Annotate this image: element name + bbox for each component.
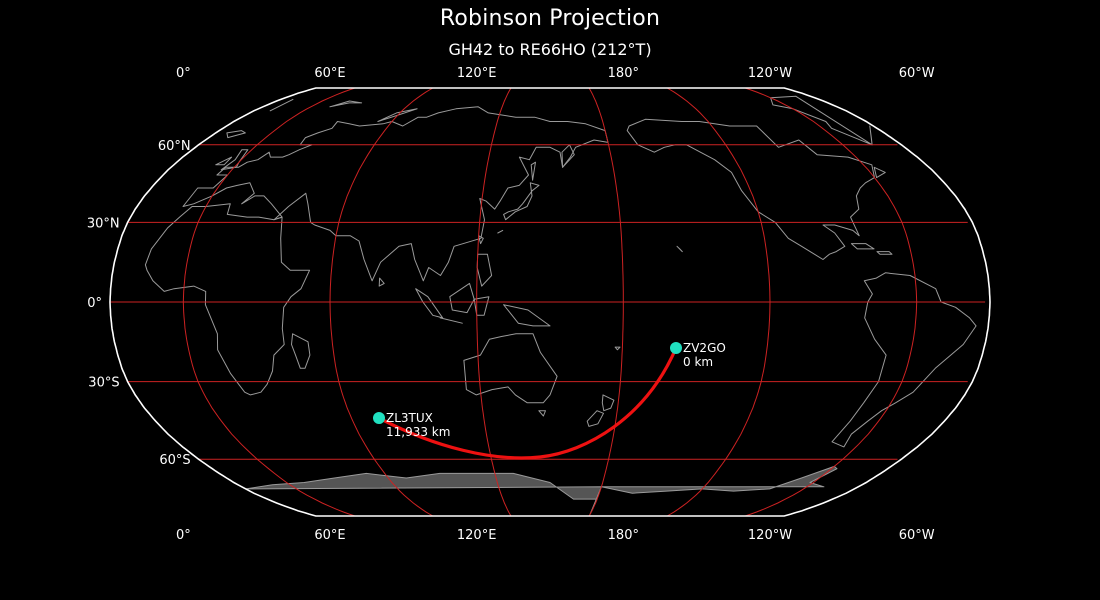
lat-tick-3: 30°S xyxy=(88,376,119,391)
figure-canvas: Robinson Projection GH42 to RE66HO (212°… xyxy=(0,0,1100,600)
lat-tick-0: 60°N xyxy=(158,139,191,154)
station-callsign-zv2go: ZV2GO xyxy=(683,341,726,355)
station-distance-zv2go: 0 km xyxy=(683,355,713,369)
station-marker-zv2go[interactable] xyxy=(670,342,682,354)
lon-tick-bottom-5: 60°E xyxy=(314,528,345,543)
lon-tick-top-5: 60°E xyxy=(314,66,345,81)
lat-tick-4: 60°S xyxy=(159,453,190,468)
lon-tick-top-4: 0° xyxy=(176,66,191,81)
lon-tick-bottom-4: 0° xyxy=(176,528,191,543)
lon-tick-top-0: 120°E xyxy=(457,66,497,81)
lat-tick-1: 30°N xyxy=(87,216,120,231)
station-marker-zl3tux[interactable] xyxy=(373,412,385,424)
station-distance-zl3tux: 11,933 km xyxy=(386,425,450,439)
lon-tick-bottom-3: 60°W xyxy=(899,528,935,543)
station-callsign-zl3tux: ZL3TUX xyxy=(386,411,433,425)
lon-tick-top-2: 120°W xyxy=(748,66,792,81)
lon-tick-top-1: 180° xyxy=(608,66,639,81)
lat-tick-2: 0° xyxy=(87,296,102,311)
lon-tick-bottom-1: 180° xyxy=(608,528,639,543)
lon-tick-bottom-2: 120°W xyxy=(748,528,792,543)
lon-tick-top-3: 60°W xyxy=(899,66,935,81)
robinson-map[interactable]: ZV2GO0 kmZL3TUX11,933 km 120°E120°E180°1… xyxy=(0,0,1100,600)
lon-tick-bottom-0: 120°E xyxy=(457,528,497,543)
